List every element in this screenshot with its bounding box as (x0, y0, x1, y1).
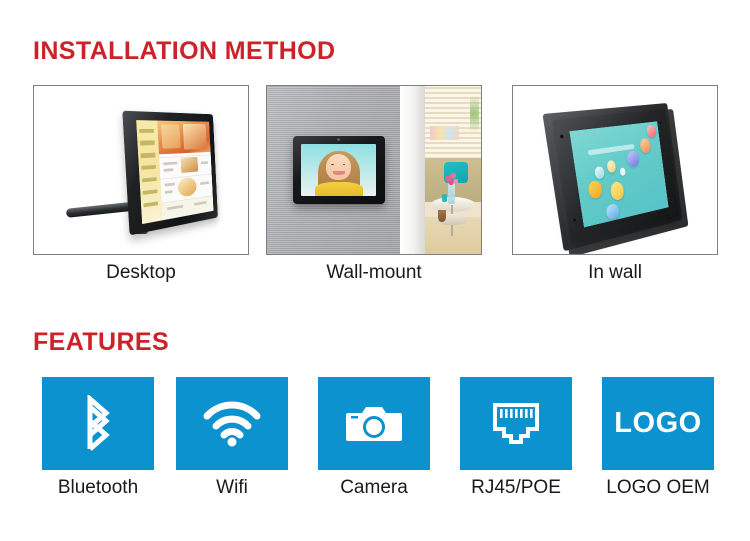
feature-item-camera[interactable]: Camera (318, 377, 430, 499)
wall-tablet-body (293, 136, 385, 203)
tablet-body (122, 111, 218, 236)
logo-text-icon: LOGO (614, 407, 701, 440)
pink-flowers (444, 167, 460, 191)
menu-content-area (157, 121, 213, 221)
in-wall-tablet-with-brackets-photo (513, 86, 717, 254)
feature-item-rj45-poe[interactable]: RJ45/POE (460, 377, 572, 499)
feature-label-rj45-poe: RJ45/POE (460, 477, 572, 499)
bluetooth-icon (77, 395, 119, 453)
feature-label-logo-oem: LOGO OEM (602, 477, 714, 499)
installation-image-desktop (33, 85, 249, 255)
feature-tile-wifi[interactable] (176, 377, 288, 470)
feature-tile-logo-oem[interactable]: LOGO (602, 377, 714, 470)
desktop-tablet-with-stand-photo (34, 86, 248, 254)
door-frame (400, 86, 426, 254)
caption-in-wall: In wall (512, 262, 718, 284)
feature-label-bluetooth: Bluetooth (42, 477, 154, 499)
feature-item-wifi[interactable]: Wifi (176, 377, 288, 499)
woman-face (326, 154, 352, 180)
feature-item-bluetooth[interactable]: Bluetooth (42, 377, 154, 499)
features-heading: FEATURES (33, 328, 169, 357)
woman-smile (333, 171, 345, 175)
feature-tile-camera[interactable] (318, 377, 430, 470)
wifi-icon (203, 401, 261, 447)
feature-item-logo-oem[interactable]: LOGO LOGO OEM (602, 377, 714, 499)
camera-icon (344, 401, 404, 447)
tablet-screen-food-menu (136, 120, 213, 224)
caption-desktop: Desktop (33, 262, 249, 284)
front-camera-dot (337, 138, 340, 141)
feature-label-wifi: Wifi (176, 477, 288, 499)
plant (470, 96, 479, 140)
teal-cup (442, 194, 447, 202)
feature-label-camera: Camera (318, 477, 430, 499)
living-room-scene (425, 86, 481, 254)
product-feature-page: INSTALLATION METHOD (0, 0, 750, 541)
android-home-screen (569, 121, 668, 228)
wooden-bowl (438, 210, 447, 222)
yellow-shirt (315, 182, 363, 197)
wall-mounted-tablet-photo (267, 86, 481, 254)
feature-tile-rj45-poe[interactable] (460, 377, 572, 470)
installation-method-heading: INSTALLATION METHOD (33, 37, 335, 66)
video-call-screen (301, 144, 376, 196)
shelf-items (430, 126, 459, 139)
installation-image-wall-mount (266, 85, 482, 255)
caption-wall-mount: Wall-mount (266, 262, 482, 284)
feature-tile-bluetooth[interactable] (42, 377, 154, 470)
rj45-ethernet-port-icon (489, 399, 543, 449)
installation-image-in-wall (512, 85, 718, 255)
